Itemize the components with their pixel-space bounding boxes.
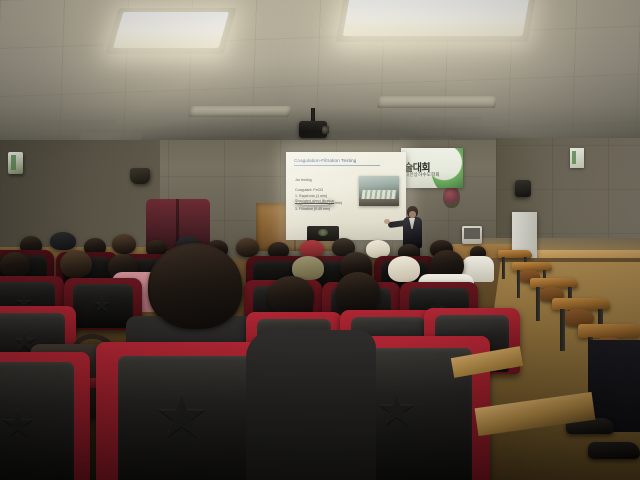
- presenter-hand: [384, 219, 390, 224]
- audience-head: [268, 276, 314, 316]
- slide-line: Coagulant: FeCl3: [295, 187, 351, 193]
- audience-head-foreground: [150, 245, 242, 329]
- ceiling-vent-3: [419, 117, 482, 126]
- photo-bench: [359, 198, 399, 206]
- wall-speaker-icon-right: [515, 180, 531, 197]
- floral-wreath-decoration: [443, 186, 460, 208]
- ceiling-lamp-right: [343, 0, 530, 36]
- lecture-hall-photo: 술대회 대한상하수도학회 Coagulation-Filtration Test…: [0, 0, 640, 480]
- slide-line-heading: Simulated direct filtration: [295, 198, 334, 204]
- slide-line: 3. Filtration (0.45 mm): [295, 206, 351, 212]
- audience-head-cap: [50, 232, 76, 250]
- audience-head: [0, 252, 30, 278]
- banner-swoosh-graphic: [431, 148, 463, 188]
- audience-head: [236, 238, 259, 257]
- audience-head-cap: [300, 240, 324, 257]
- slide-line: Jar testing: [295, 177, 351, 183]
- wall-speaker-icon-left: [8, 152, 23, 174]
- seat-foreground: ★: [0, 352, 90, 480]
- wall-sign-right: [570, 148, 584, 168]
- wall-speaker-icon-center: [130, 168, 150, 184]
- lamp-frame-right: [336, 0, 536, 42]
- slide-title: Coagulation-Filtration Testing: [294, 158, 356, 163]
- photo-jars: [361, 190, 396, 199]
- slide-title-rule: [294, 165, 380, 166]
- ceiling-fixture-1: [189, 106, 292, 117]
- lamp-frame-left: [105, 8, 236, 54]
- banner-subtitle: 대한상하수도학회: [405, 172, 440, 178]
- dress-shoe: [588, 442, 640, 459]
- audience-head: [60, 250, 92, 278]
- ceiling-vent-1: [36, 120, 117, 129]
- audience-head-cap: [388, 256, 420, 282]
- slide-body: Jar testing Coagulant: FeCl3 Simulated d…: [295, 177, 351, 212]
- ceiling-fixture-2: [377, 96, 497, 108]
- ceiling-lamp-left: [113, 12, 229, 48]
- podium: [307, 226, 339, 241]
- slide-photo: [359, 176, 399, 206]
- computer-monitor-icon[interactable]: [462, 226, 482, 244]
- audience-head: [336, 272, 380, 312]
- audience-torso-foreground: [246, 330, 376, 480]
- conference-banner: 술대회 대한상하수도학회: [401, 148, 463, 188]
- presenter-face: [409, 211, 416, 218]
- projector-lens-icon: [322, 126, 329, 134]
- slide-line: 2. Quiescent contact (20 min): [295, 200, 351, 206]
- slide-line: 1. Rapid mix (1 min): [295, 193, 351, 199]
- audience-head: [112, 234, 136, 254]
